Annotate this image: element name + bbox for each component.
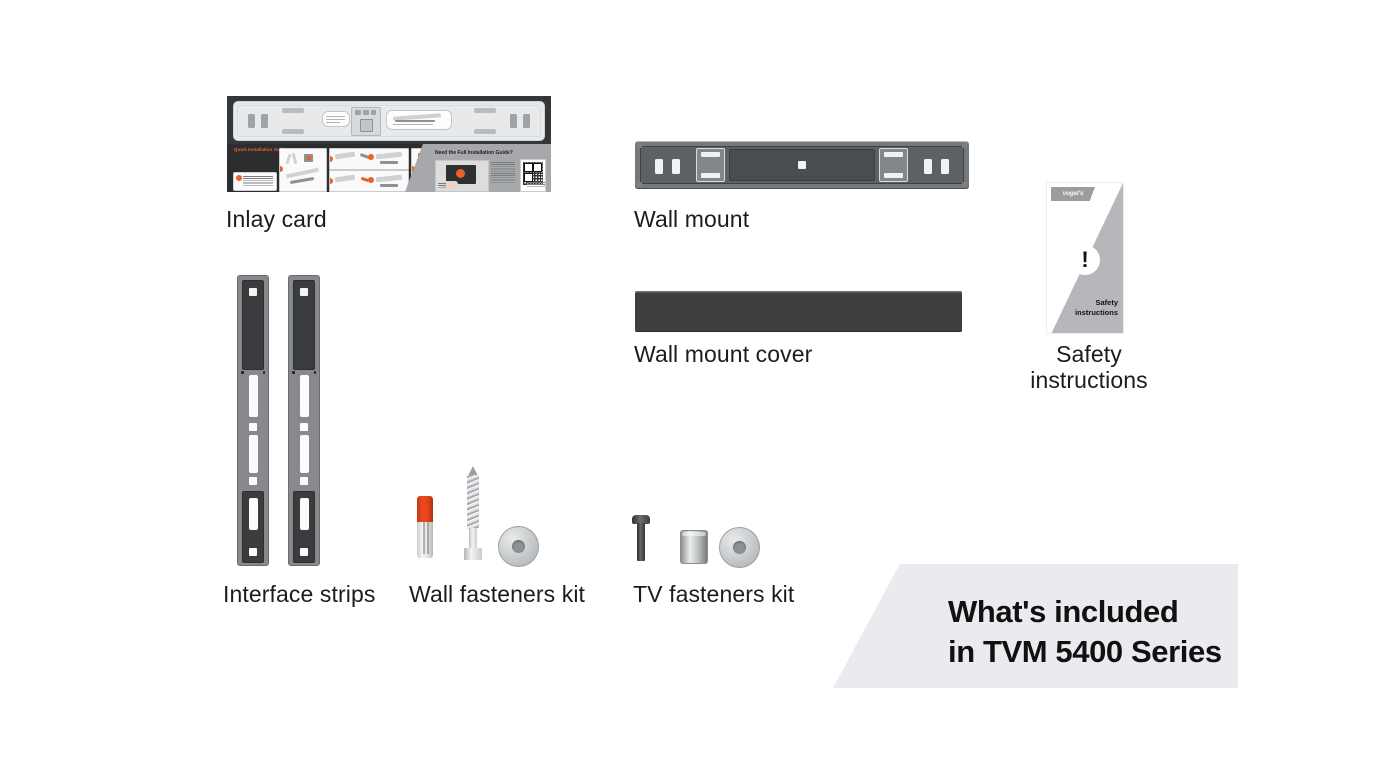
tray-slot-left-1 (248, 114, 255, 128)
inlay-card-tray (233, 101, 545, 141)
panel1-strip (286, 168, 319, 179)
safety-instructions-image: vogel's ! Safety instructions (1046, 182, 1124, 334)
panel1-strip-2 (290, 177, 314, 184)
tray-bar-bottom-right (474, 129, 496, 134)
panel1-tool-2 (292, 153, 298, 164)
product-contents-diagram: Quick Installation Guide (0, 0, 1400, 760)
strip-left-pin-1 (241, 371, 244, 374)
wall-mount-label: Wall mount (634, 207, 749, 233)
strip-right-pin-1 (292, 371, 295, 374)
wall-mount-body (640, 146, 964, 184)
safety-card-caption-line1: Safety (1075, 298, 1118, 307)
tray-box-chip-4 (360, 119, 373, 132)
tv-washer-hole (733, 541, 746, 554)
wall-mount-slot-right-1 (924, 159, 932, 174)
panel3-part-4 (380, 184, 398, 187)
strip-right-pin-2 (314, 371, 317, 374)
wall-mount-corner-br (962, 182, 967, 187)
panel1-step-dot (279, 166, 283, 172)
tray-sketch-line (395, 120, 435, 122)
strip-left-top-hole (249, 288, 257, 296)
guide-panel-1 (279, 148, 327, 192)
wall-fasteners-kit-label: Wall fasteners kit (409, 582, 585, 608)
wall-mount-slot-left-2 (672, 159, 680, 174)
exclamation-glyph: ! (1081, 249, 1088, 271)
safety-instructions-label-line2: instructions (983, 368, 1195, 394)
tray-sketch-bar (393, 113, 441, 120)
qr-eye-tl (524, 163, 533, 172)
wall-washer-image (498, 526, 539, 567)
wall-mount-bracket-left (696, 148, 725, 182)
screw-head (464, 548, 482, 560)
safety-instructions-label-line1: Safety (983, 342, 1195, 368)
tv-fasteners-kit-label: TV fasteners kit (633, 582, 794, 608)
tray-box-chip-1 (355, 110, 361, 115)
wall-mount-cover-image (635, 291, 962, 332)
screw-threads (467, 475, 479, 529)
tv-spacer-image (680, 530, 708, 564)
wall-mount-bracket-right (879, 148, 908, 182)
wall-mount-center-marker (798, 161, 806, 169)
tray-slot-right-2 (523, 114, 530, 128)
strip-right-top-panel (293, 280, 315, 370)
panel3-part-1 (335, 175, 356, 183)
strip-left-slot-2 (249, 435, 258, 473)
panel2-step-dot-2 (368, 154, 374, 160)
tray-slot-right-1 (510, 114, 517, 128)
strip-right-top-hole (300, 288, 308, 296)
note-text-lines (243, 176, 273, 187)
interface-strips-label: Interface strips (223, 582, 375, 608)
wall-plug-red-section (417, 496, 433, 522)
strip-right-square-1 (300, 423, 308, 431)
guide-panel-3 (329, 170, 409, 192)
panel3-part-3 (376, 175, 402, 183)
callout-line-3 (326, 122, 340, 123)
wall-mount-corner-tr (962, 143, 967, 148)
inlay-card-label: Inlay card (226, 207, 327, 233)
tray-sketch-caption (393, 124, 433, 125)
strip-left-top-panel (242, 280, 264, 370)
tray-bar-bottom-left (282, 129, 304, 134)
tablet-caption-lines (438, 183, 446, 189)
interface-strip-right (288, 275, 320, 566)
what-is-included-banner: What's included in TVM 5400 Series (833, 564, 1238, 688)
tablet-illustration (435, 160, 489, 192)
wall-screw-image (464, 466, 482, 560)
strip-left-pin-2 (263, 371, 266, 374)
panel1-highlight (307, 156, 311, 160)
tray-slot-left-2 (261, 114, 268, 128)
panel2-step-dot (329, 156, 333, 162)
wall-mount-corner-tl (637, 143, 642, 148)
tray-callout-bubble (322, 111, 350, 127)
inlay-card-guide-area: Quick Installation Guide (227, 144, 551, 192)
safety-card-caption: Safety instructions (1075, 298, 1118, 317)
interface-strip-left (237, 275, 269, 566)
strip-left-square-2 (249, 477, 257, 485)
strip-right-mid-section (293, 375, 315, 485)
wall-mount-slot-right-2 (941, 159, 949, 174)
strip-left-bottom-slot (249, 498, 258, 530)
wall-mount-cover-label: Wall mount cover (634, 342, 812, 368)
tv-washer-image (719, 527, 760, 568)
brand-logo: vogel's (1051, 187, 1095, 201)
inlay-card-gray-wedge: Need the Full Installation Guide? (405, 144, 551, 192)
wall-mount-slot-left-1 (655, 159, 663, 174)
strip-right-bottom-slot (300, 498, 309, 530)
banner-title: What's included in TVM 5400 Series (948, 592, 1222, 673)
safety-card-caption-line2: instructions (1075, 308, 1118, 317)
tv-bolt-image (632, 515, 650, 561)
strip-left-square-1 (249, 423, 257, 431)
tray-component-box (351, 107, 381, 136)
wall-plug-seam-2 (427, 522, 429, 554)
inlay-card-footnote (527, 182, 545, 188)
strip-left-slot-1 (249, 375, 258, 417)
safety-instructions-label: Safety instructions (983, 342, 1195, 394)
strip-right-slot-1 (300, 375, 309, 417)
quick-guide-note-box (233, 172, 277, 191)
callout-line-1 (326, 116, 345, 117)
tray-box-chip-2 (363, 110, 369, 115)
note-step-dot (236, 175, 242, 181)
wall-mount-image (635, 141, 969, 189)
panel3-step-dot (329, 178, 333, 184)
warning-exclamation-icon: ! (1070, 245, 1100, 275)
strip-right-square-2 (300, 477, 308, 485)
callout-line-2 (326, 119, 345, 120)
tray-box-chip-3 (371, 110, 376, 115)
wall-mount-center-panel (729, 149, 875, 181)
strip-right-bottom-square (300, 548, 308, 556)
strip-right-slot-2 (300, 435, 309, 473)
guide-panel-2 (329, 148, 409, 170)
wall-plug-image (417, 496, 433, 558)
strip-left-mid-section (242, 375, 264, 485)
panel3-step-dot-2 (368, 177, 374, 183)
inlay-card-tray-area (227, 96, 551, 144)
full-guide-heading: Need the Full Installation Guide? (435, 150, 513, 156)
tablet-screen-content (456, 169, 465, 178)
tray-illustration-panel (386, 110, 452, 130)
panel2-part-3 (376, 152, 402, 160)
panel2-part-4 (380, 161, 398, 164)
wall-plug-seam-1 (423, 522, 425, 554)
qr-eye-bl (524, 173, 533, 182)
screw-shaft (469, 528, 477, 550)
tray-bar-top-right (474, 108, 496, 113)
strip-right-bottom-panel (293, 491, 315, 563)
strip-left-bottom-panel (242, 491, 264, 563)
wall-washer-hole (512, 540, 525, 553)
wall-mount-corner-bl (637, 182, 642, 187)
full-guide-text-lines (491, 162, 515, 184)
tv-bolt-shaft (637, 523, 645, 561)
tray-bar-top-left (282, 108, 304, 113)
qr-eye-tr (533, 163, 542, 172)
panel1-tool-1 (286, 154, 292, 164)
inlay-card-image: Quick Installation Guide (227, 96, 551, 192)
panel2-part-1 (335, 152, 356, 160)
strip-left-bottom-square (249, 548, 257, 556)
